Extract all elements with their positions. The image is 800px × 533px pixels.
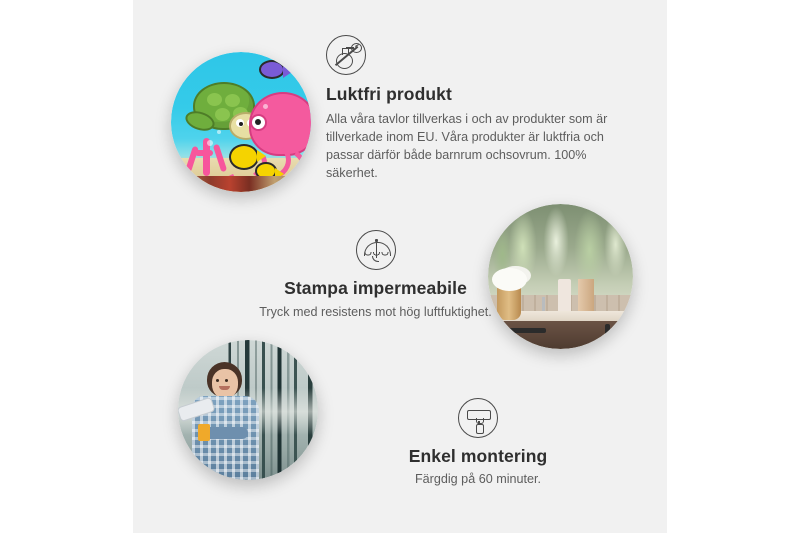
tool-handle xyxy=(198,424,211,441)
feature-description: Tryck med resistens mot hög luftfuktighe… xyxy=(218,303,533,321)
bubble xyxy=(207,140,213,146)
paint-roller-icon xyxy=(458,398,498,438)
forest-mural-painter-circle[interactable] xyxy=(178,340,318,480)
feature-panel: Luktfri produkt Alla våra tavlor tillver… xyxy=(133,0,667,533)
feature-block-easy-assembly: Enkel montering Färgdig på 60 minuter. xyxy=(328,398,628,488)
person-eyes xyxy=(216,379,219,382)
person-face xyxy=(212,369,239,398)
wooden-vanity xyxy=(488,321,633,349)
octopus-eye xyxy=(250,114,267,131)
umbrella-icon xyxy=(356,230,396,270)
feature-description: Färgdig på 60 minuter. xyxy=(328,470,628,488)
bubble xyxy=(263,104,268,109)
fish xyxy=(259,60,285,79)
tissue-box xyxy=(558,279,571,314)
feature-description: Alla våra tavlor tillverkas i och av pro… xyxy=(326,110,626,183)
forest-image-inner xyxy=(178,340,318,480)
feature-title: Enkel montering xyxy=(328,446,628,467)
underwater-cartoon-circle[interactable] xyxy=(171,52,311,192)
feature-block-waterproof: Stampa impermeabile Tryck med resistens … xyxy=(218,230,533,321)
screenshot-root: Luktfri produkt Alla våra tavlor tillver… xyxy=(0,0,800,533)
sea-foreground-strip xyxy=(171,176,311,192)
feature-title: Stampa impermeabile xyxy=(218,278,533,299)
feature-block-odour-free: Luktfri produkt Alla våra tavlor tillver… xyxy=(326,35,626,183)
no-spray-bottle-icon xyxy=(326,35,366,75)
bubble xyxy=(217,130,221,134)
fish xyxy=(229,144,259,170)
feature-title: Luktfri produkt xyxy=(326,84,626,105)
underwater-image-inner xyxy=(171,52,311,192)
